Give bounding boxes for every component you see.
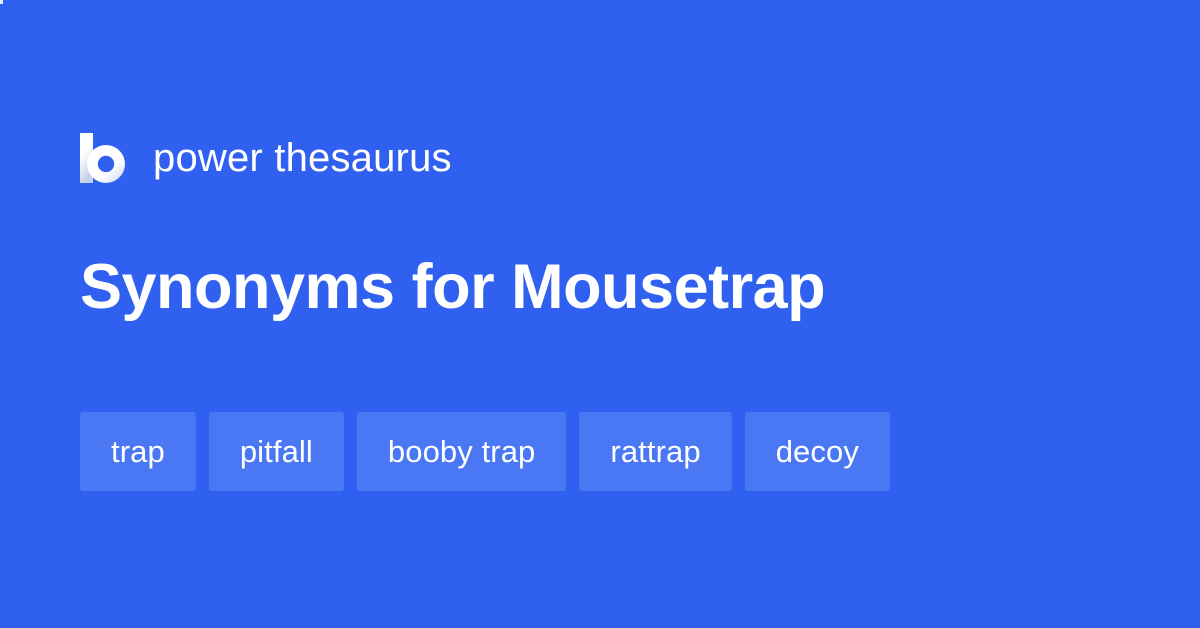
page-title: Synonyms for Mousetrap <box>80 253 825 321</box>
brand-name: power thesaurus <box>153 138 452 178</box>
synonym-chip[interactable]: trap <box>80 412 196 491</box>
power-thesaurus-b-logo-icon <box>80 133 126 183</box>
share-card: power thesaurus Synonyms for Mousetrap t… <box>0 0 1200 628</box>
synonym-chip-label: rattrap <box>610 436 700 467</box>
synonym-chip[interactable]: decoy <box>745 412 890 491</box>
synonym-chip-list: trap pitfall booby trap rattrap decoy <box>80 412 890 491</box>
corner-artifact <box>0 0 3 4</box>
brand-lockup[interactable]: power thesaurus <box>80 130 452 186</box>
synonym-chip[interactable]: pitfall <box>209 412 344 491</box>
synonym-chip[interactable]: booby trap <box>357 412 567 491</box>
synonym-chip-label: booby trap <box>388 436 536 467</box>
synonym-chip-label: decoy <box>776 436 859 467</box>
synonym-chip-label: pitfall <box>240 436 313 467</box>
synonym-chip-label: trap <box>111 436 165 467</box>
synonym-chip[interactable]: rattrap <box>579 412 731 491</box>
